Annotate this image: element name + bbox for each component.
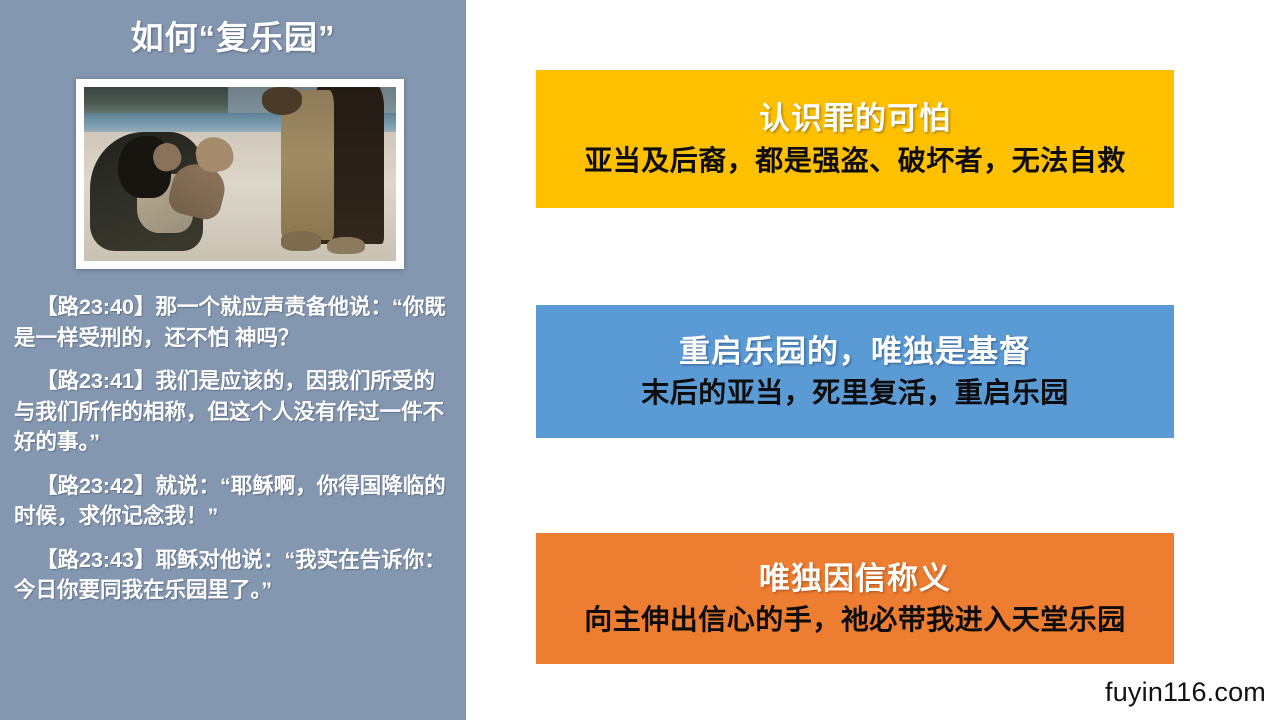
scripture-block: 【路23:40】那一个就应声责备他说：“你既是一样受刑的，还不怕 神吗？ 【路2…: [14, 292, 454, 606]
point-1-subtitle: 亚当及后裔，都是强盗、破坏者，无法自救: [584, 143, 1126, 178]
sidebar-panel: 如何“复乐园” 【路23:40】那一个就应声责备他说：“你既是一样受刑的，: [0, 0, 466, 720]
kneeling-woman-image: [84, 87, 396, 261]
point-3-title: 唯独因信称义: [759, 560, 951, 599]
slide-canvas: 如何“复乐园” 【路23:40】那一个就应声责备他说：“你既是一样受刑的，: [0, 0, 1280, 720]
verse-luke-23-42: 【路23:42】就说：“耶稣啊，你得国降临的时候，求你记念我！”: [14, 471, 454, 532]
verse-luke-23-43: 【路23:43】耶稣对他说：“我实在告诉你：今日你要同我在乐园里了。”: [14, 545, 454, 606]
photo-frame: [76, 79, 404, 269]
point-panel-1: 认识罪的可怕 亚当及后裔，都是强盗、破坏者，无法自救: [536, 70, 1174, 208]
point-panel-2: 重启乐园的，唯独是基督 末后的亚当，死里复活，重启乐园: [536, 305, 1174, 438]
page-title: 如何“复乐园”: [0, 18, 466, 58]
point-2-title: 重启乐园的，唯独是基督: [679, 333, 1031, 372]
point-1-title: 认识罪的可怕: [759, 100, 951, 139]
photo-sandal-right: [327, 237, 364, 254]
point-2-subtitle: 末后的亚当，死里复活，重启乐园: [641, 375, 1069, 410]
photo-sandal-left: [281, 231, 322, 250]
verse-luke-23-41: 【路23:41】我们是应该的，因我们所受的与我们所作的相称，但这个人没有作过一件…: [14, 366, 454, 458]
verse-luke-23-40: 【路23:40】那一个就应声责备他说：“你既是一样受刑的，还不怕 神吗？: [14, 292, 454, 353]
photo-upper-hand: [262, 87, 303, 115]
site-watermark: fuyin116.com: [1105, 677, 1266, 708]
point-panel-3: 唯独因信称义 向主伸出信心的手，祂必带我进入天堂乐园: [536, 533, 1174, 664]
point-3-subtitle: 向主伸出信心的手，祂必带我进入天堂乐园: [584, 602, 1126, 637]
